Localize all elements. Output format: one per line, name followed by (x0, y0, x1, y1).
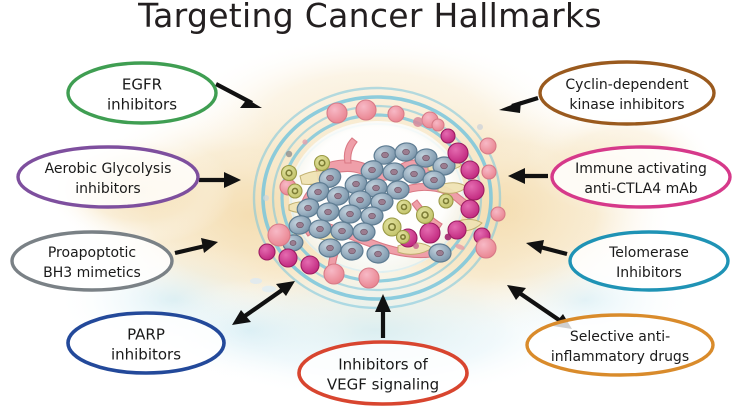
label-line-immune-1: Immune activating (575, 161, 707, 177)
label-outline-telomerase-inhibitors (570, 232, 728, 290)
label-line-telomerase-2: Inhibitors (616, 265, 682, 281)
label-line-antiinflammatory-1: Selective anti- (570, 329, 670, 345)
label-line-bh3-1: Proapoptotic (48, 245, 136, 261)
label-line-vegf-1: Inhibitors of (338, 356, 428, 374)
label-parp-inhibitors[interactable]: PARP inhibitors (68, 313, 224, 373)
label-line-egfr-2: inhibitors (107, 96, 177, 114)
label-line-parp-2: inhibitors (111, 346, 181, 364)
label-line-antiinflammatory-2: inflammatory drugs (551, 349, 689, 365)
targeting-cancer-hallmarks-figure: Targeting Cancer Hallmarks EGFR inhibito… (0, 0, 741, 419)
label-outline-selective-anti-inflammatory-drugs (527, 315, 713, 375)
label-line-glycolysis-2: inhibitors (75, 181, 140, 197)
label-selective-anti-inflammatory-drugs[interactable]: Selective anti- inflammatory drugs (527, 315, 713, 375)
label-line-bh3-2: BH3 mimetics (43, 265, 141, 281)
label-cyclin-dependent-kinase-inhibitors[interactable]: Cyclin-dependent kinase inhibitors (540, 62, 714, 124)
label-line-glycolysis-1: Aerobic Glycolysis (45, 161, 172, 177)
label-aerobic-glycolysis-inhibitors[interactable]: Aerobic Glycolysis inhibitors (18, 147, 198, 207)
label-immune-activating-anti-ctla4-mab[interactable]: Immune activating anti-CTLA4 mAb (552, 147, 730, 207)
label-proapoptotic-bh3-mimetics[interactable]: Proapoptotic BH3 mimetics (12, 232, 172, 290)
label-telomerase-inhibitors[interactable]: Telomerase Inhibitors (570, 232, 728, 290)
label-inhibitors-of-vegf-signaling[interactable]: Inhibitors of VEGF signaling (299, 342, 467, 404)
label-line-cyclin-2: kinase inhibitors (569, 97, 684, 113)
label-line-immune-2: anti-CTLA4 mAb (584, 181, 697, 197)
label-line-vegf-2: VEGF signaling (327, 376, 439, 394)
label-line-cyclin-1: Cyclin-dependent (565, 77, 689, 93)
label-outline-aerobic-glycolysis-inhibitors (18, 147, 198, 207)
label-line-parp-1: PARP (127, 326, 165, 344)
figure-title: Targeting Cancer Hallmarks (137, 0, 602, 35)
label-outline-immune-activating-anti-ctla4-mab (552, 147, 730, 207)
label-outline-proapoptotic-bh3-mimetics (12, 232, 172, 290)
label-line-egfr-1: EGFR (122, 76, 162, 94)
label-line-telomerase-1: Telomerase (608, 245, 689, 261)
label-egfr-inhibitors[interactable]: EGFR inhibitors (68, 63, 216, 123)
label-outline-cyclin-dependent-kinase-inhibitors (540, 62, 714, 124)
